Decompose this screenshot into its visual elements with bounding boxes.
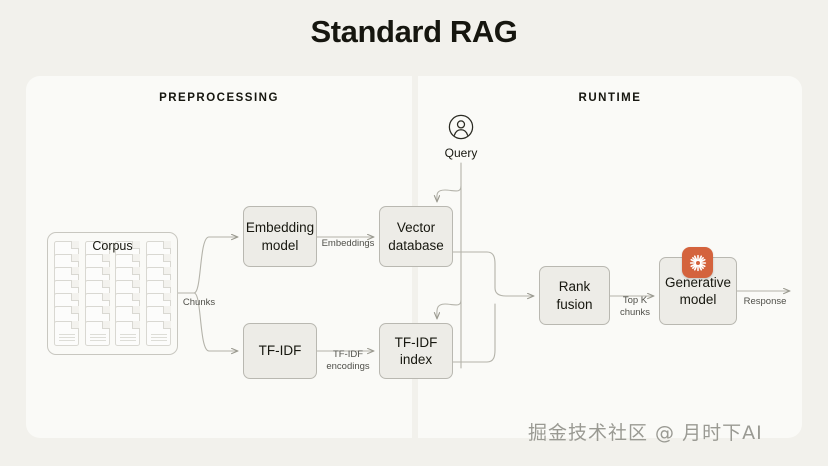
user-circle-icon	[448, 114, 474, 140]
node-embedding-model[interactable]: Embedding model	[243, 206, 317, 267]
document-stack	[54, 241, 79, 348]
node-corpus-label: Corpus	[47, 239, 178, 253]
watermark: 掘金技术社区 @ 月时下AI	[528, 418, 763, 445]
claude-starburst-icon	[682, 247, 713, 278]
node-query[interactable]: Query	[440, 114, 482, 160]
document-icon	[54, 321, 79, 346]
edge-label-top-k-chunks: Top K chunks	[611, 295, 659, 319]
node-tfidf[interactable]: TF-IDF	[243, 323, 317, 379]
node-tfidf-index[interactable]: TF-IDF index	[379, 323, 453, 379]
document-stack	[146, 241, 171, 348]
page-title: Standard RAG	[0, 14, 828, 50]
edge-label-embeddings: Embeddings	[317, 238, 379, 250]
diagram-canvas: Standard RAG PREPROCESSING RUNTIME	[0, 0, 828, 466]
node-vector-database[interactable]: Vector database	[379, 206, 453, 267]
corpus-document-stacks	[54, 241, 171, 348]
document-stack	[115, 241, 140, 348]
panel-heading-runtime: RUNTIME	[418, 92, 802, 104]
edge-label-tfidf-encodings: TF-IDF encodings	[317, 349, 379, 373]
edge-label-chunks: Chunks	[172, 297, 226, 309]
document-icon	[146, 321, 171, 346]
panel-heading-preprocessing: PREPROCESSING	[26, 92, 412, 104]
node-rank-fusion[interactable]: Rank fusion	[539, 266, 610, 325]
document-icon	[115, 321, 140, 346]
document-icon	[85, 321, 110, 346]
node-query-label: Query	[440, 146, 482, 160]
starburst-glyph	[688, 253, 708, 273]
edge-label-response: Response	[739, 296, 791, 308]
document-stack	[85, 241, 110, 348]
